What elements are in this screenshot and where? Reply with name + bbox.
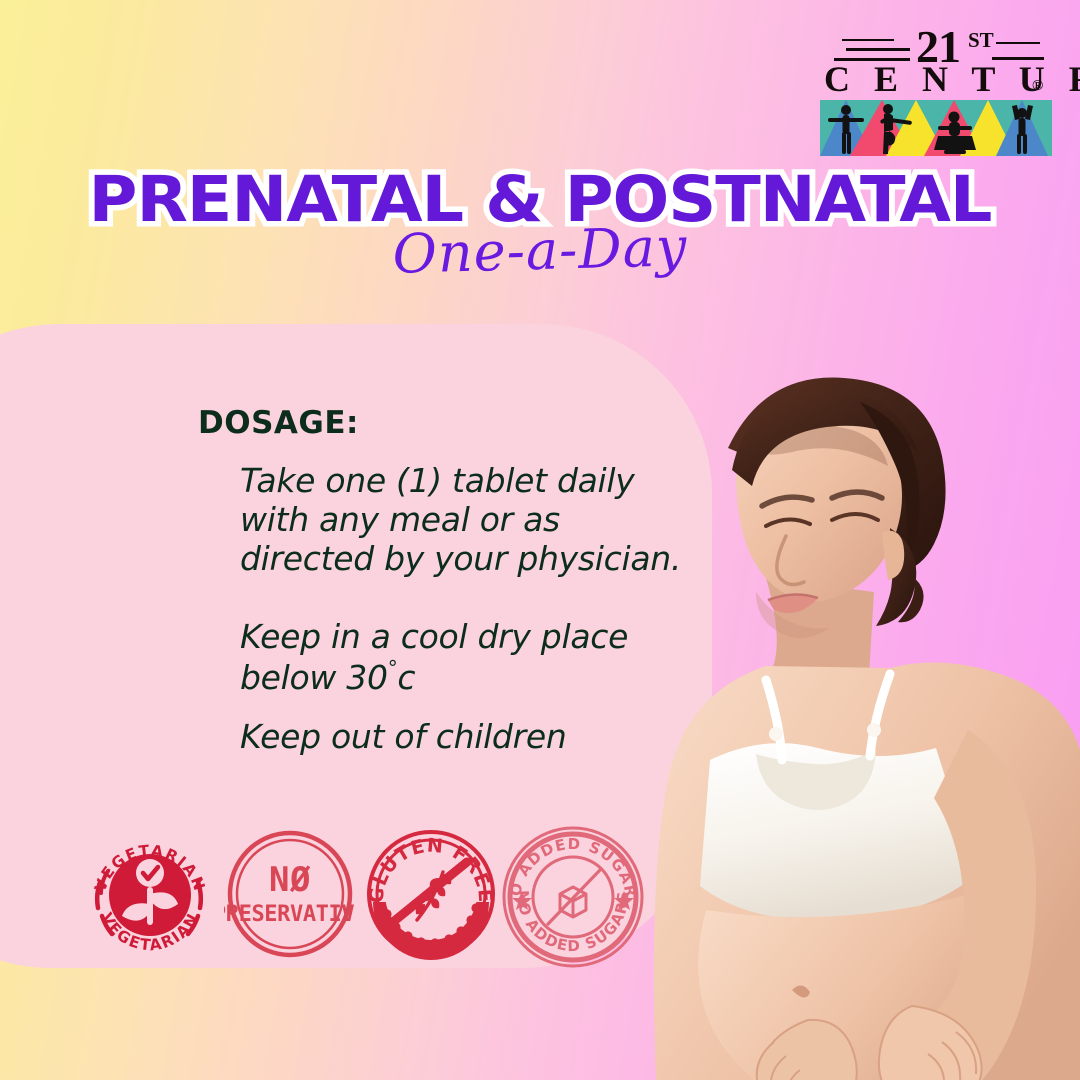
logo-ordinal: ST: [968, 28, 994, 53]
logo-rule-left-top: [842, 39, 894, 41]
registered-trademark-icon: ®: [1032, 78, 1043, 95]
model-photo: [560, 330, 1080, 1080]
poster-canvas: 21 ST C E N T U R Y ®: [0, 0, 1080, 1080]
storage-unit: c: [397, 658, 415, 697]
logo-rule-right-top: [996, 42, 1040, 44]
brand-logo: 21 ST C E N T U R Y ®: [820, 24, 1052, 150]
vegetarian-badge-icon: VEGETARIAN VEGETARIAN: [80, 824, 220, 964]
logo-figure-band-icon: [820, 100, 1052, 156]
no-preservative-line-1: NØ: [269, 860, 311, 900]
logo-brand-name: C E N T U R Y: [824, 58, 1038, 100]
dosage-heading: DOSAGE:: [198, 405, 359, 441]
no-preservative-line-2: PRESERVATIVE: [224, 902, 356, 927]
degree-symbol: °: [388, 656, 398, 680]
headline-block: PRENATAL & POSTNATAL One-a-Day: [0, 168, 1080, 231]
logo-wordmark: 21 ST C E N T U R Y ®: [820, 24, 1052, 98]
no-preservative-badge-icon: NØ PRESERVATIVE: [224, 828, 356, 960]
logo-rule-left-mid: [846, 48, 910, 51]
storage-line-2: below 30: [240, 658, 388, 697]
gluten-free-badge-icon: GLUTEN FREE: [363, 826, 499, 962]
children-warning-text: Keep out of children: [240, 718, 566, 757]
